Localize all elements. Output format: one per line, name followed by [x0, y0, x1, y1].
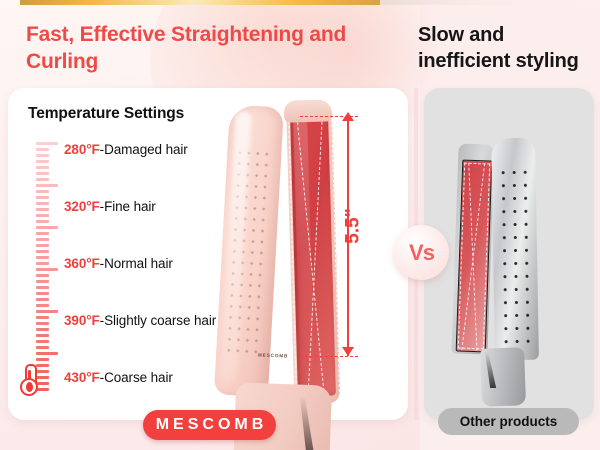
temperature-value: 390°F — [64, 313, 100, 328]
temperature-hair-type: Fine hair — [104, 199, 156, 214]
measurement-label: 5.5" — [343, 208, 365, 243]
headline-left: Fast, Effective Straightening and Curlin… — [26, 22, 366, 76]
vs-badge-label: Vs — [409, 240, 434, 266]
temperature-settings-title: Temperature Settings — [28, 105, 184, 123]
temperature-hair-type: Normal hair — [104, 256, 173, 271]
temperature-row: 430°F-Coarse hair — [64, 370, 173, 385]
brand-badge-other-products: Other products — [438, 408, 579, 435]
temperature-row: 320°F-Fine hair — [64, 199, 156, 214]
top-right-strip — [380, 0, 600, 5]
brand-badge-other-products-label: Other products — [460, 414, 558, 429]
measurement-guide-bottom — [300, 356, 358, 357]
other-arm-perforated — [491, 138, 539, 361]
temperature-row: 280°F-Damaged hair — [64, 142, 188, 157]
product-image-other — [455, 130, 570, 400]
vs-badge: Vs — [394, 225, 449, 280]
brand-badge-mescomb: MESCOMB — [143, 410, 276, 440]
temperature-row: 360°F-Normal hair — [64, 256, 173, 271]
thermometer-icon — [18, 364, 40, 398]
ruler-scale-icon — [36, 142, 62, 392]
product-tip-cap — [284, 99, 333, 122]
temperature-value: 280°F — [64, 142, 100, 157]
temperature-hair-type: Damaged hair — [104, 142, 188, 157]
temperature-value: 360°F — [64, 256, 100, 271]
top-gold-strip — [20, 0, 380, 5]
temperature-hair-type: Slightly coarse hair — [104, 313, 216, 328]
product-body-brandmark: MESCOMB — [258, 352, 288, 358]
temperature-value: 320°F — [64, 199, 100, 214]
temperature-hair-type: Coarse hair — [104, 370, 173, 385]
measurement-arrow-down-icon — [342, 347, 354, 356]
infographic-stage: Fast, Effective Straightening and Curlin… — [0, 0, 600, 450]
temperature-row: 390°F-Slightly coarse hair — [64, 313, 216, 328]
headline-right: Slow and inefficient styling — [418, 22, 598, 74]
product-image-mescomb — [228, 96, 348, 406]
temperature-value: 430°F — [64, 370, 100, 385]
product-heating-plate — [290, 111, 336, 396]
brand-badge-mescomb-label: MESCOMB — [152, 416, 268, 434]
measurement-arrow-up-icon — [342, 112, 354, 121]
